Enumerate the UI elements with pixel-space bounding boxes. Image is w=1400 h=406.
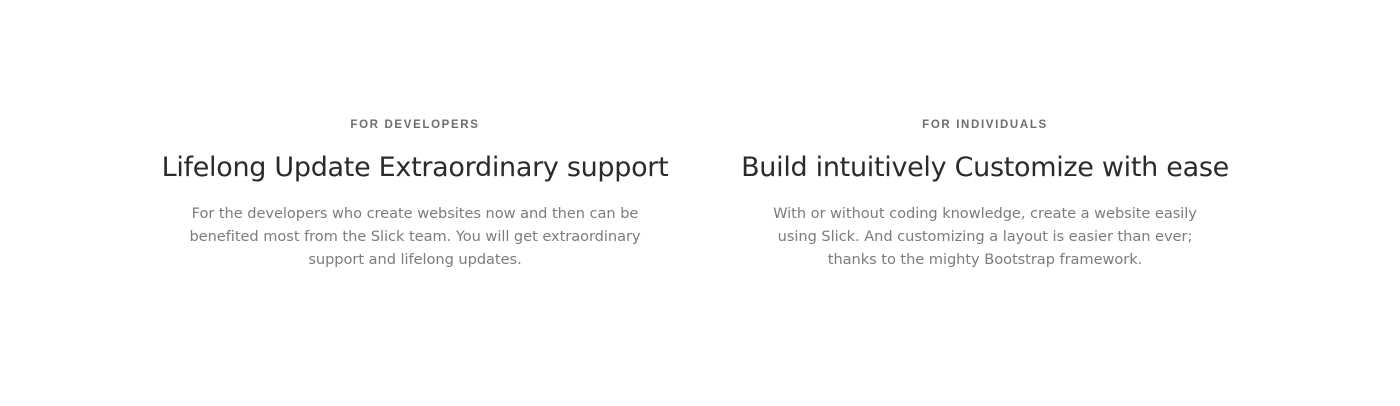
feature-body-individuals: With or without coding knowledge, create… bbox=[752, 186, 1218, 271]
feature-column-individuals: FOR INDIVIDUALS Build intuitively Custom… bbox=[700, 118, 1270, 271]
feature-eyebrow-individuals: FOR INDIVIDUALS bbox=[922, 118, 1048, 132]
feature-columns-section: FOR DEVELOPERS Lifelong Update Extraordi… bbox=[0, 0, 1400, 406]
feature-eyebrow-developers: FOR DEVELOPERS bbox=[350, 118, 479, 132]
feature-body-developers: For the developers who create websites n… bbox=[182, 186, 648, 271]
feature-heading-individuals: Build intuitively Customize with ease bbox=[741, 132, 1229, 186]
feature-column-developers: FOR DEVELOPERS Lifelong Update Extraordi… bbox=[130, 118, 700, 271]
feature-heading-developers: Lifelong Update Extraordinary support bbox=[162, 132, 669, 186]
